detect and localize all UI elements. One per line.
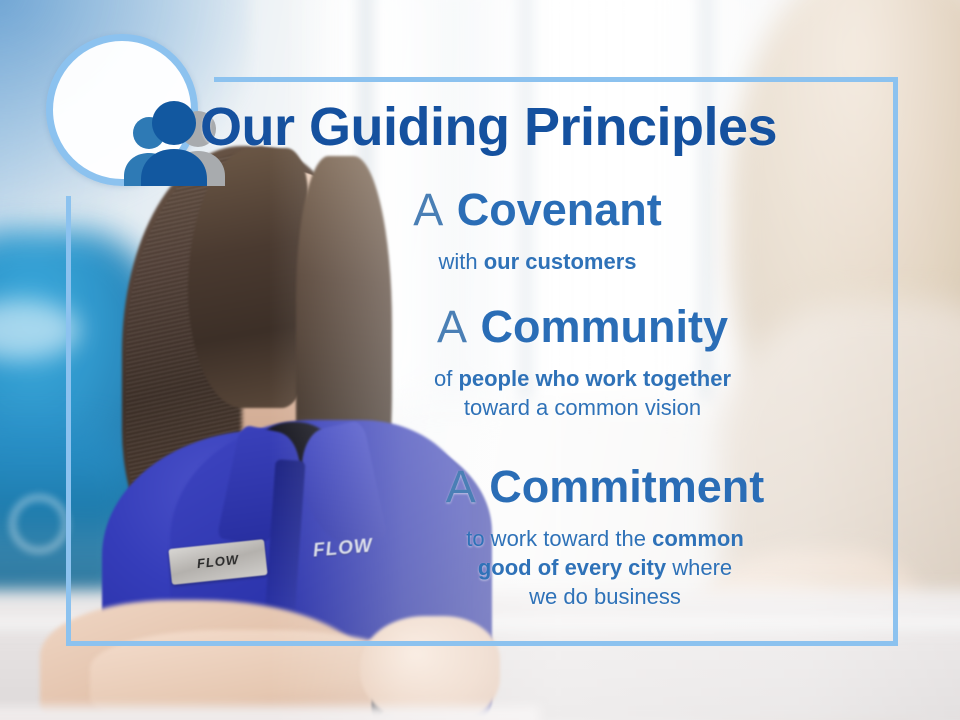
principle-3-sub-a: to work toward the <box>466 526 652 551</box>
principle-1-sub-a: with <box>438 249 483 274</box>
principle-covenant: A Covenant with our customers <box>255 186 820 276</box>
principle-1-subtext: with our customers <box>255 247 820 276</box>
principle-3-sub-c: where <box>666 555 732 580</box>
principle-2-sub-a: of <box>434 366 458 391</box>
principle-3-word: Commitment <box>489 461 764 512</box>
principle-3-sub-b2: good of every city <box>478 555 666 580</box>
page-title: Our Guiding Principles <box>200 96 880 158</box>
principle-3-sub-b: common <box>652 526 744 551</box>
principle-1-lead: A <box>413 184 444 235</box>
principle-2-word: Community <box>481 301 729 352</box>
principle-2-lead: A <box>437 301 468 352</box>
principle-community: A Community of people who work together … <box>300 303 865 422</box>
principle-3-heading: A Commitment <box>320 463 890 510</box>
principle-commitment: A Commitment to work toward the common g… <box>320 463 890 611</box>
principle-3-subtext: to work toward the common good of every … <box>320 524 890 611</box>
principle-1-word: Covenant <box>457 184 662 235</box>
principle-2-sub-b: people who work together <box>458 366 731 391</box>
banner-graphic: FLOW FLOW Our Guiding Pri <box>0 0 960 720</box>
principle-3-sub-line3: we do business <box>529 584 681 609</box>
principle-2-subtext: of people who work together toward a com… <box>300 364 865 422</box>
principle-2-sub-line2: toward a common vision <box>464 395 701 420</box>
principle-1-heading: A Covenant <box>255 186 820 233</box>
principle-3-lead: A <box>446 461 477 512</box>
principle-1-sub-b: our customers <box>484 249 637 274</box>
principle-2-heading: A Community <box>300 303 865 350</box>
text-content: Our Guiding Principles A Covenant with o… <box>0 0 960 720</box>
